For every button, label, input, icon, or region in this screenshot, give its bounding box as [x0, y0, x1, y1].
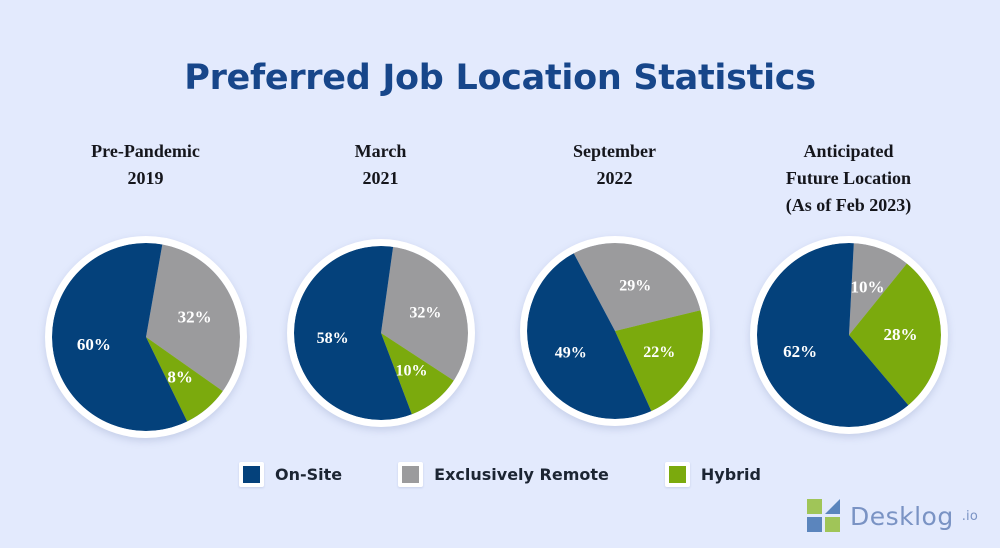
chart-caption: March2021 [263, 138, 498, 192]
legend-swatch-icon [239, 462, 264, 487]
pie-slice-value: 8% [167, 368, 193, 387]
legend-item-exclusively_remote[interactable]: Exclusively Remote [398, 462, 609, 487]
brand-logo[interactable]: Desklog .io [806, 498, 978, 534]
chart-caption-line: September [497, 138, 732, 165]
chart-caption-line: Anticipated [731, 138, 966, 165]
pie-slice-value: 58% [316, 330, 348, 347]
chart-caption-line: March [263, 138, 498, 165]
chart-caption-line: Future Location [731, 165, 966, 192]
pie-graphic: 32%8%60% [39, 230, 253, 444]
chart-caption-line: Pre-Pandemic [28, 138, 263, 165]
pie-svg: 10%28%62% [744, 230, 954, 440]
pie-chart-2: September202229%22%49% [497, 138, 732, 428]
pie-chart-1: March202132%10%58% [263, 138, 498, 428]
legend-label: Exclusively Remote [434, 465, 609, 484]
chart-caption: Pre-Pandemic2019 [28, 138, 263, 192]
pie-graphic: 10%28%62% [744, 230, 954, 440]
pie-slice-value: 22% [643, 344, 675, 361]
chart-caption: AnticipatedFuture Location(As of Feb 202… [731, 138, 966, 219]
pie-slices [527, 243, 703, 419]
legend-label: On-Site [275, 465, 342, 484]
pie-slice-value: 49% [554, 344, 586, 361]
pie-slice-value: 62% [783, 342, 817, 361]
chart-caption-line: 2019 [28, 165, 263, 192]
pie-graphic: 32%10%58% [281, 233, 481, 433]
pie-chart-3: AnticipatedFuture Location(As of Feb 202… [731, 138, 966, 428]
pie-svg: 32%8%60% [39, 230, 253, 444]
pie-graphic: 29%22%49% [514, 230, 716, 432]
pie-svg: 29%22%49% [514, 230, 716, 432]
chart-caption: September2022 [497, 138, 732, 192]
pie-slice-value: 29% [619, 278, 651, 295]
brand-name: Desklog [850, 504, 954, 529]
pie-svg: 32%10%58% [281, 233, 481, 433]
chart-caption-line: 2022 [497, 165, 732, 192]
infographic-canvas: Preferred Job Location Statistics Pre-Pa… [0, 0, 1000, 548]
pie-slice-value: 28% [883, 325, 917, 344]
brand-tld: .io [962, 509, 978, 524]
pie-slice-value: 32% [177, 307, 211, 326]
chart-caption-line: (As of Feb 2023) [731, 192, 966, 219]
page-title: Preferred Job Location Statistics [0, 58, 1000, 98]
pie-chart-0: Pre-Pandemic201932%8%60% [28, 138, 263, 428]
pie-slice-value: 60% [76, 335, 110, 354]
pie-chart-row: Pre-Pandemic201932%8%60%March202132%10%5… [0, 138, 1000, 428]
legend-swatch-icon [398, 462, 423, 487]
pie-slice-value: 32% [409, 304, 441, 321]
pie-slice-value: 10% [850, 277, 884, 296]
legend-item-on_site[interactable]: On-Site [239, 462, 342, 487]
legend-item-hybrid[interactable]: Hybrid [665, 462, 761, 487]
chart-caption-line: 2021 [263, 165, 498, 192]
desklog-logo-icon [806, 498, 842, 534]
legend-label: Hybrid [701, 465, 761, 484]
pie-slice-value: 10% [395, 362, 427, 379]
legend-swatch-icon [665, 462, 690, 487]
chart-legend: On-SiteExclusively RemoteHybrid [0, 462, 1000, 487]
